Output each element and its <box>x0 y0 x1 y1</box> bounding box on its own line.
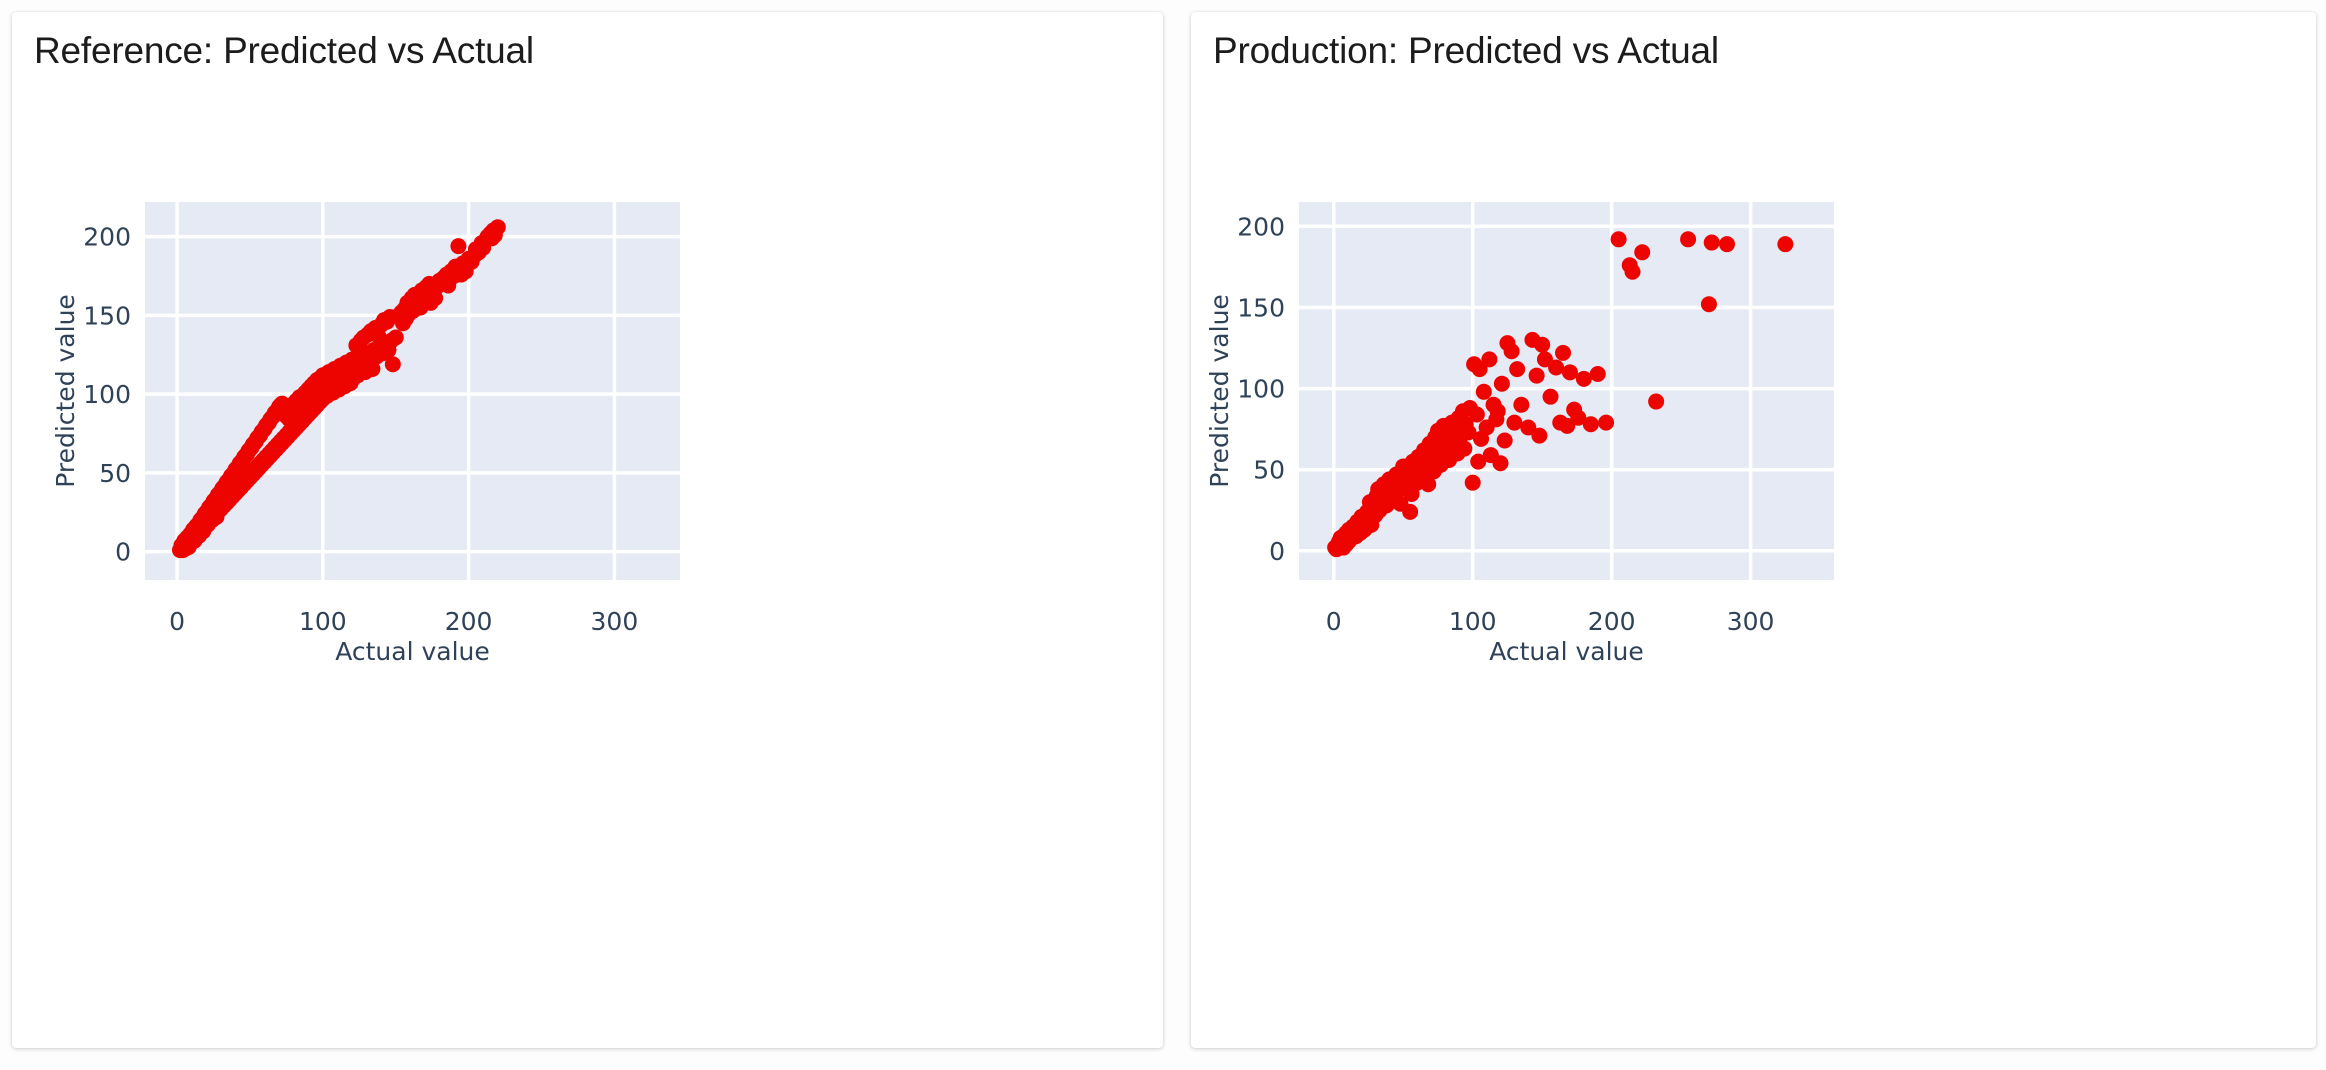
x-axis-title: Actual value <box>1489 637 1644 666</box>
scatter-point <box>1497 432 1513 448</box>
y-tick-label: 100 <box>83 380 131 409</box>
y-axis-title: Predicted value <box>51 294 80 488</box>
scatter-point <box>1529 368 1545 384</box>
y-axis-title: Predicted value <box>1205 294 1234 488</box>
scatter-point <box>1548 359 1564 375</box>
scatter-point <box>1701 296 1717 312</box>
y-tick-label: 200 <box>1237 212 1285 241</box>
x-tick-label: 0 <box>1326 607 1342 636</box>
y-tick-label: 200 <box>83 223 131 252</box>
scatter-point <box>388 329 404 345</box>
x-tick-label: 300 <box>1727 607 1775 636</box>
scatter-point <box>1492 455 1508 471</box>
scatter-point <box>1509 361 1525 377</box>
x-tick-label: 300 <box>591 607 639 636</box>
scatter-point <box>1719 236 1735 252</box>
scatter-point <box>1590 366 1606 382</box>
scatter-point <box>1583 416 1599 432</box>
production-scatter-svg: 0100200300050100150200Actual valuePredic… <box>1191 12 2316 1048</box>
y-tick-label: 50 <box>1253 456 1285 485</box>
reference-chart-card: Reference: Predicted vs Actual 010020030… <box>12 12 1163 1048</box>
scatter-point <box>1465 475 1481 491</box>
scatter-point <box>1531 428 1547 444</box>
x-tick-label: 100 <box>1449 607 1497 636</box>
scatter-point <box>1576 371 1592 387</box>
scatter-point <box>1456 441 1472 457</box>
scatter-point <box>1506 415 1522 431</box>
scatter-point <box>1648 394 1664 410</box>
scatter-point <box>1562 364 1578 380</box>
scatter-point <box>1611 231 1627 247</box>
scatter-point <box>1704 235 1720 251</box>
production-chart-card: Production: Predicted vs Actual 01002003… <box>1191 12 2316 1048</box>
scatter-point <box>1513 397 1529 413</box>
scatter-point <box>1504 343 1520 359</box>
scatter-point <box>1494 376 1510 392</box>
x-tick-label: 200 <box>1588 607 1636 636</box>
dashboard-root: Reference: Predicted vs Actual 010020030… <box>0 0 2326 1070</box>
scatter-point <box>1625 264 1641 280</box>
x-tick-label: 100 <box>299 607 347 636</box>
production-plot-area: 0100200300050100150200Actual valuePredic… <box>1191 12 2316 1048</box>
scatter-point <box>1469 407 1485 423</box>
reference-plot-area: 0100200300050100150200Actual valuePredic… <box>12 12 1163 1048</box>
scatter-point <box>1476 384 1492 400</box>
reference-scatter-svg: 0100200300050100150200Actual valuePredic… <box>12 12 1163 1048</box>
scatter-point <box>1680 231 1696 247</box>
plot-background <box>145 202 680 580</box>
y-tick-label: 150 <box>83 301 131 330</box>
scatter-point <box>1490 403 1506 419</box>
scatter-point <box>1534 337 1550 353</box>
scatter-point <box>1555 345 1571 361</box>
scatter-point <box>1402 504 1418 520</box>
y-tick-label: 50 <box>99 459 131 488</box>
y-tick-label: 0 <box>115 538 131 567</box>
scatter-point <box>1777 236 1793 252</box>
plot-background <box>1299 202 1834 580</box>
scatter-point <box>385 356 401 372</box>
scatter-point <box>1634 244 1650 260</box>
x-axis-title: Actual value <box>335 637 490 666</box>
scatter-point <box>450 238 466 254</box>
x-tick-label: 200 <box>445 607 493 636</box>
scatter-point <box>1543 389 1559 405</box>
scatter-point <box>490 219 506 235</box>
x-tick-label: 0 <box>169 607 185 636</box>
scatter-point <box>1598 415 1614 431</box>
y-tick-label: 150 <box>1237 293 1285 322</box>
scatter-point <box>1481 351 1497 367</box>
y-tick-label: 100 <box>1237 375 1285 404</box>
y-tick-label: 0 <box>1269 537 1285 566</box>
